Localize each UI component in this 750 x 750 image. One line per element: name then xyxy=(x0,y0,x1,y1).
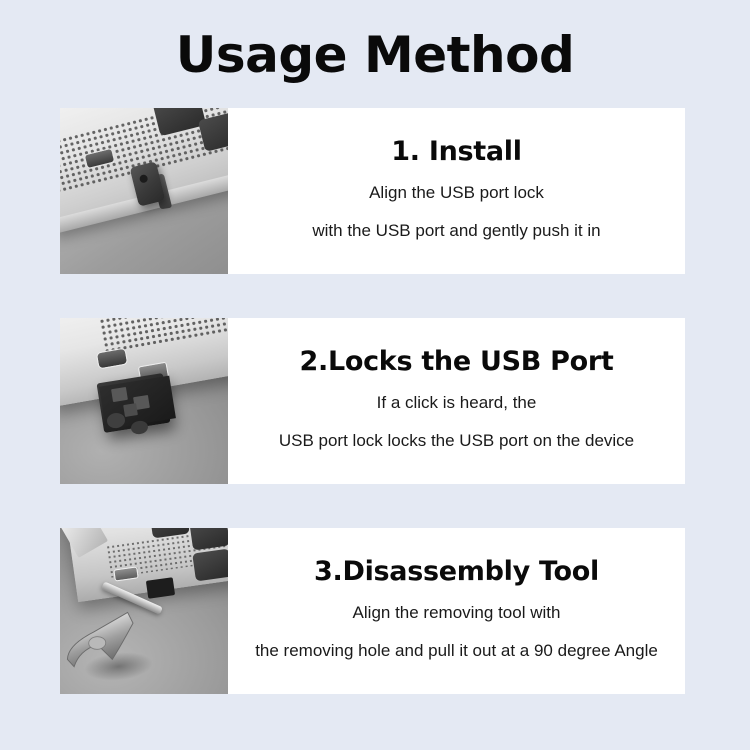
step-line-3a: Align the removing tool with xyxy=(353,602,561,625)
photo3-tool-handle xyxy=(61,605,142,673)
step-line-1b: with the USB port and gently push it in xyxy=(312,220,600,243)
step-text-3: 3.Disassembly Tool Align the removing to… xyxy=(228,528,685,694)
steps-list: 1. Install Align the USB port lock with … xyxy=(60,108,685,738)
step-line-3b: the removing hole and pull it out at a 9… xyxy=(255,640,658,663)
step-photo-2 xyxy=(60,318,228,484)
usage-method-page: Usage Method 1. Install xyxy=(0,0,750,750)
step-line-1a: Align the USB port lock xyxy=(369,182,544,205)
step-card-3: 3.Disassembly Tool Align the removing to… xyxy=(60,528,685,694)
step-photo-1 xyxy=(60,108,228,274)
step-line-2b: USB port lock locks the USB port on the … xyxy=(279,430,634,453)
step-text-2: 2.Locks the USB Port If a click is heard… xyxy=(228,318,685,484)
step-heading-1: 1. Install xyxy=(391,137,521,167)
step-card-2: 2.Locks the USB Port If a click is heard… xyxy=(60,318,685,484)
step-card-1: 1. Install Align the USB port lock with … xyxy=(60,108,685,274)
step-line-2a: If a click is heard, the xyxy=(377,392,537,415)
step-text-1: 1. Install Align the USB port lock with … xyxy=(228,108,685,274)
photo2-lock-notch xyxy=(111,387,128,402)
step-heading-3: 3.Disassembly Tool xyxy=(314,557,599,587)
step-photo-3 xyxy=(60,528,228,694)
photo3-keycap xyxy=(193,549,228,582)
step-heading-2: 2.Locks the USB Port xyxy=(300,347,614,377)
photo2-lock-notch xyxy=(123,403,138,417)
page-title: Usage Method xyxy=(0,0,750,83)
